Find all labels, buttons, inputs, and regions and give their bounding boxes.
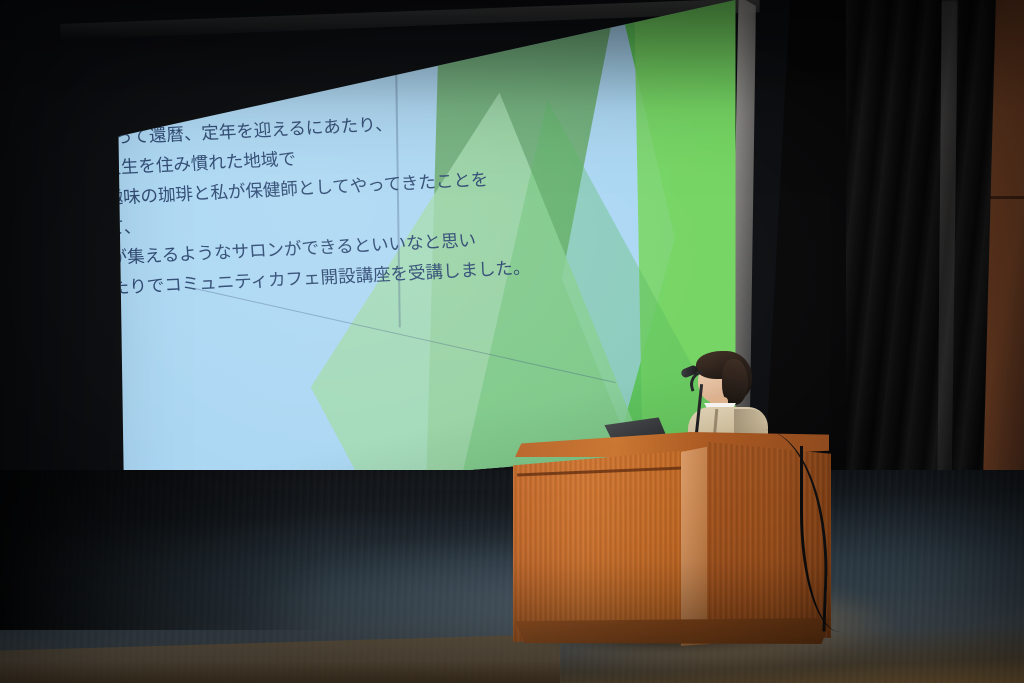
- podium-corner-post: [681, 446, 711, 646]
- podium-front-panel: [513, 450, 691, 642]
- stage-photo: 1 入学のきっかけ 夫婦そろって還暦、定年を迎えるにあたり、 第二の人生を住み慣…: [0, 0, 1024, 683]
